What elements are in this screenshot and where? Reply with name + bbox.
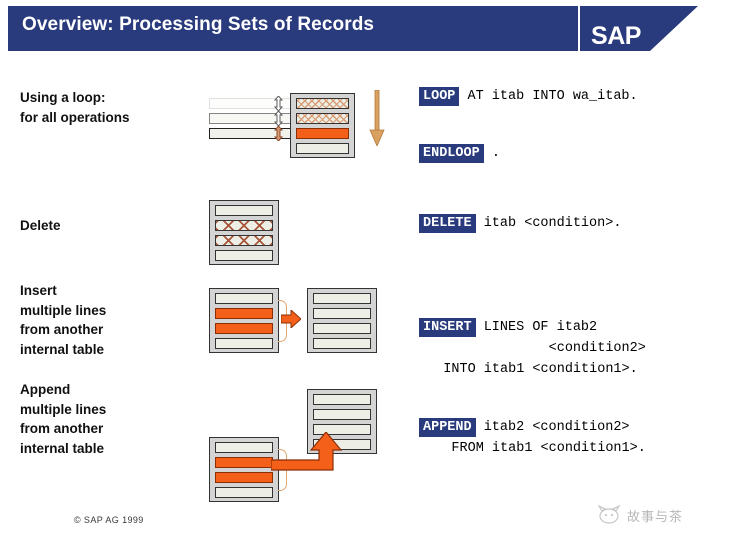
append-source-table — [209, 437, 279, 502]
code-append-line-1: APPEND itab2 <condition2> — [419, 420, 630, 435]
label-delete: Delete — [20, 216, 61, 236]
delete-table-row-2-deleted — [215, 220, 273, 231]
loop-down-arrow-icon — [369, 90, 385, 146]
insert-target-row-1 — [313, 293, 371, 304]
loop-table-row-2 — [296, 113, 349, 124]
code-loop-line-1: LOOP AT itab INTO wa_itab. — [419, 89, 638, 104]
code-insert-line-3: INTO itab1 <condition1>. — [419, 362, 638, 377]
code-insert-line-1: INSERT LINES OF itab2 — [419, 320, 597, 335]
keyword-loop: LOOP — [419, 87, 459, 106]
label-insert: Insert multiple lines from another inter… — [20, 281, 106, 359]
loop-connector-3-active — [272, 126, 285, 141]
page-title: Overview: Processing Sets of Records — [22, 14, 374, 36]
insert-right-arrow-icon — [281, 310, 301, 328]
keyword-delete: DELETE — [419, 214, 476, 233]
append-source-row-4 — [215, 487, 273, 498]
code-append-line-2: FROM itab1 <condition1>. — [419, 441, 646, 456]
loop-table-row-3-current — [296, 128, 349, 139]
insert-source-row-2-selected — [215, 308, 273, 319]
append-source-row-1 — [215, 442, 273, 453]
header-triangle-accent — [650, 6, 698, 51]
keyword-insert: INSERT — [419, 318, 476, 337]
slide-canvas: Overview: Processing Sets of Records SAP… — [0, 0, 730, 548]
loop-connector-2 — [272, 111, 285, 126]
label-using-a-loop: Using a loop: for all operations — [20, 88, 130, 127]
code-insert-line-2: <condition2> — [419, 341, 646, 356]
code-loop-text-2: . — [484, 146, 500, 161]
append-up-arrow-icon — [271, 432, 376, 477]
insert-target-table — [307, 288, 377, 353]
label-append: Append multiple lines from another inter… — [20, 380, 106, 458]
delete-table-row-4 — [215, 250, 273, 261]
insert-source-table — [209, 288, 279, 353]
slide-header: Overview: Processing Sets of Records SAP — [0, 0, 730, 57]
insert-target-row-3 — [313, 323, 371, 334]
watermark-text: 故事与茶 — [627, 506, 683, 525]
delete-table-row-3-deleted — [215, 235, 273, 246]
copyright-notice: © SAP AG 1999 — [74, 515, 144, 525]
append-source-row-3-selected — [215, 472, 273, 483]
watermark: 故事与茶 — [596, 505, 683, 525]
code-loop-text-1: AT itab INTO wa_itab. — [459, 89, 637, 104]
keyword-endloop: ENDLOOP — [419, 144, 484, 163]
loop-table-row-4 — [296, 143, 349, 154]
code-delete-line-1: DELETE itab <condition>. — [419, 216, 621, 231]
append-source-row-2-selected — [215, 457, 273, 468]
delete-table-row-1 — [215, 205, 273, 216]
insert-source-row-4 — [215, 338, 273, 349]
insert-target-row-4 — [313, 338, 371, 349]
insert-source-row-3-selected — [215, 323, 273, 334]
sap-logo: SAP — [585, 22, 647, 51]
insert-source-row-1 — [215, 293, 273, 304]
insert-target-row-2 — [313, 308, 371, 319]
loop-internal-table — [290, 93, 355, 158]
code-append-text-1: itab2 <condition2> — [476, 420, 630, 435]
code-insert-text-1: LINES OF itab2 — [476, 320, 598, 335]
loop-table-row-1 — [296, 98, 349, 109]
code-delete-text-1: itab <condition>. — [476, 216, 622, 231]
delete-internal-table — [209, 200, 279, 265]
loop-connector-1 — [272, 96, 285, 111]
cat-face-icon — [596, 505, 622, 525]
keyword-append: APPEND — [419, 418, 476, 437]
append-target-row-1 — [313, 394, 371, 405]
append-target-row-2 — [313, 409, 371, 420]
code-loop-line-2: ENDLOOP . — [419, 146, 500, 161]
